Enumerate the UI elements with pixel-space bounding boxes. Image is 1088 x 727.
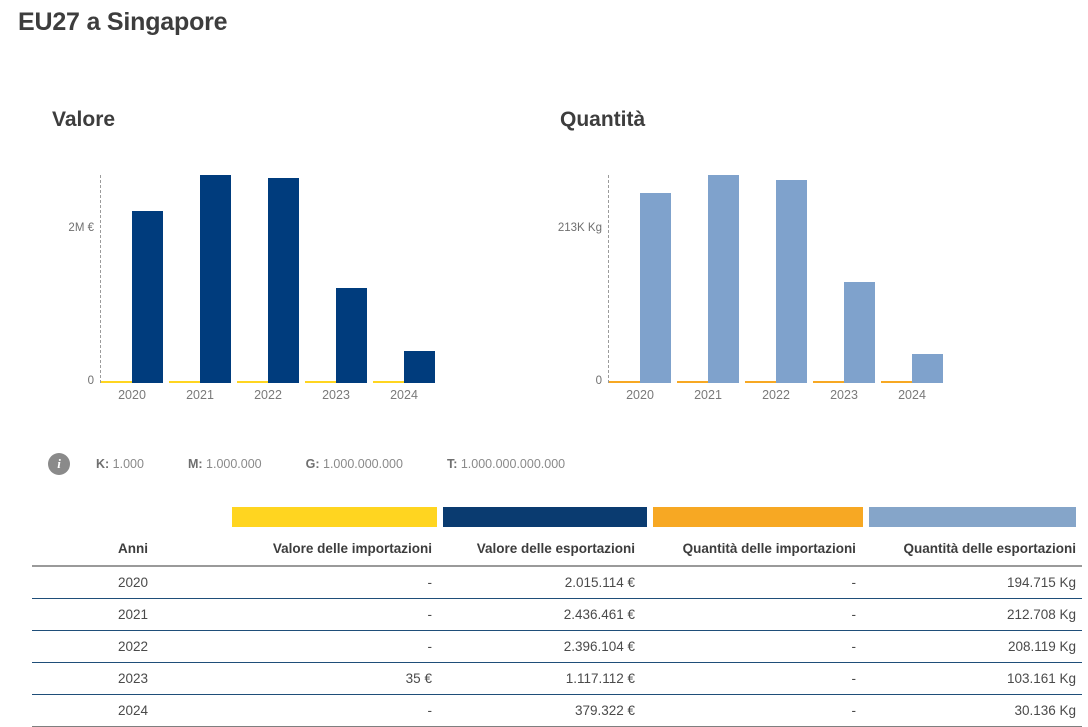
table-header-row: Anni Valore delle importazioni Valore de…	[32, 537, 1082, 566]
cell-valore-esportazioni: 2.015.114 €	[438, 566, 641, 599]
x-axis-label: 2023	[305, 388, 367, 402]
cell-quantita-esportazioni: 208.119 Kg	[862, 631, 1082, 663]
cell-anni: 2024	[32, 695, 234, 727]
chart-quantita: Quantità 213K Kg 0 20202021202220232024	[548, 100, 1048, 430]
charts-area: Valore 2M € 0 20202021202220232024 Quant…	[0, 100, 1088, 430]
x-axis-label: 2021	[677, 388, 739, 402]
bar-esportazioni[interactable]	[708, 175, 739, 383]
bar-group	[881, 175, 943, 383]
bar-importazioni[interactable]	[169, 381, 200, 383]
x-axis-label: 2024	[881, 388, 943, 402]
cell-quantita-importazioni: -	[641, 631, 862, 663]
table-row: 2024-379.322 €-30.136 Kg	[32, 695, 1082, 727]
bar-group	[237, 175, 299, 383]
y-axis-top-label: 213K Kg	[548, 222, 602, 234]
unit-item: G: 1.000.000.000	[306, 457, 403, 471]
bar-importazioni[interactable]	[305, 381, 336, 383]
bar-importazioni[interactable]	[677, 381, 708, 383]
bar-group	[101, 175, 163, 383]
bar-esportazioni[interactable]	[404, 351, 435, 383]
bar-esportazioni[interactable]	[640, 193, 671, 383]
table-row: 2020-2.015.114 €-194.715 Kg	[32, 566, 1082, 599]
cell-valore-importazioni: -	[234, 695, 438, 727]
cell-quantita-importazioni: -	[641, 599, 862, 631]
cell-valore-esportazioni: 2.396.104 €	[438, 631, 641, 663]
cell-valore-importazioni: 35 €	[234, 663, 438, 695]
cell-quantita-esportazioni: 30.136 Kg	[862, 695, 1082, 727]
bar-group	[169, 175, 231, 383]
bar-group	[373, 175, 435, 383]
plot-quantita: 213K Kg 0 20202021202220232024	[548, 170, 968, 410]
cell-anni: 2022	[32, 631, 234, 663]
cell-valore-esportazioni: 2.436.461 €	[438, 599, 641, 631]
table-row: 2022-2.396.104 €-208.119 Kg	[32, 631, 1082, 663]
cell-quantita-importazioni: -	[641, 566, 862, 599]
legend-swatch[interactable]	[232, 507, 437, 527]
bar-esportazioni[interactable]	[132, 211, 163, 383]
cell-valore-importazioni: -	[234, 631, 438, 663]
col-header-quantita-importazioni[interactable]: Quantità delle importazioni	[641, 537, 862, 566]
col-header-valore-esportazioni[interactable]: Valore delle esportazioni	[438, 537, 641, 566]
col-header-anni[interactable]: Anni	[32, 537, 234, 566]
unit-item: M: 1.000.000	[188, 457, 262, 471]
unit-item: K: 1.000	[96, 457, 144, 471]
table-row: 2021-2.436.461 €-212.708 Kg	[32, 599, 1082, 631]
x-axis-label: 2020	[609, 388, 671, 402]
bars-valore: 20202021202220232024	[101, 175, 441, 383]
bar-group	[305, 175, 367, 383]
cell-anni: 2020	[32, 566, 234, 599]
cell-quantita-esportazioni: 212.708 Kg	[862, 599, 1082, 631]
cell-anni: 2023	[32, 663, 234, 695]
x-axis-label: 2023	[813, 388, 875, 402]
x-axis-label: 2021	[169, 388, 231, 402]
data-table: Anni Valore delle importazioni Valore de…	[32, 537, 1082, 727]
bar-esportazioni[interactable]	[776, 180, 807, 383]
bar-esportazioni[interactable]	[844, 282, 875, 383]
bar-group	[609, 175, 671, 383]
bar-importazioni[interactable]	[101, 381, 132, 383]
unit-item: T: 1.000.000.000.000	[447, 457, 565, 471]
cell-valore-importazioni: -	[234, 566, 438, 599]
legend-swatch[interactable]	[869, 507, 1076, 527]
cell-valore-esportazioni: 1.117.112 €	[438, 663, 641, 695]
cell-anni: 2021	[32, 599, 234, 631]
bar-esportazioni[interactable]	[912, 354, 943, 383]
y-axis-zero-label: 0	[548, 375, 602, 387]
x-axis-label: 2024	[373, 388, 435, 402]
y-axis-top-label: 2M €	[40, 222, 94, 234]
cell-valore-esportazioni: 379.322 €	[438, 695, 641, 727]
col-header-quantita-esportazioni[interactable]: Quantità delle esportazioni	[862, 537, 1082, 566]
table-row: 202335 €1.117.112 €-103.161 Kg	[32, 663, 1082, 695]
units-note: i K: 1.000M: 1.000.000G: 1.000.000.000T:…	[48, 450, 609, 478]
x-axis-label: 2022	[237, 388, 299, 402]
legend-color-bars	[232, 507, 1082, 527]
cell-valore-importazioni: -	[234, 599, 438, 631]
chart-title-valore: Valore	[52, 108, 115, 132]
bar-esportazioni[interactable]	[268, 178, 299, 383]
bar-esportazioni[interactable]	[200, 175, 231, 383]
bar-importazioni[interactable]	[745, 381, 776, 383]
bar-importazioni[interactable]	[373, 381, 404, 383]
chart-valore: Valore 2M € 0 20202021202220232024	[40, 100, 540, 430]
cell-quantita-importazioni: -	[641, 663, 862, 695]
bar-esportazioni[interactable]	[336, 288, 367, 383]
legend-swatch[interactable]	[443, 507, 648, 527]
y-axis-zero-label: 0	[40, 375, 94, 387]
bar-group	[813, 175, 875, 383]
cell-quantita-esportazioni: 103.161 Kg	[862, 663, 1082, 695]
bar-group	[745, 175, 807, 383]
chart-title-quantita: Quantità	[560, 108, 645, 132]
bars-quantita: 20202021202220232024	[609, 175, 949, 383]
bar-importazioni[interactable]	[813, 381, 844, 383]
cell-quantita-importazioni: -	[641, 695, 862, 727]
bar-group	[677, 175, 739, 383]
bar-importazioni[interactable]	[881, 381, 912, 383]
col-header-valore-importazioni[interactable]: Valore delle importazioni	[234, 537, 438, 566]
cell-quantita-esportazioni: 194.715 Kg	[862, 566, 1082, 599]
x-axis-label: 2020	[101, 388, 163, 402]
page-title: EU27 a Singapore	[18, 8, 227, 37]
legend-swatch[interactable]	[653, 507, 862, 527]
x-axis-label: 2022	[745, 388, 807, 402]
bar-importazioni[interactable]	[237, 381, 268, 383]
bar-importazioni[interactable]	[609, 381, 640, 383]
plot-valore: 2M € 0 20202021202220232024	[40, 170, 460, 410]
info-icon[interactable]: i	[48, 453, 70, 475]
